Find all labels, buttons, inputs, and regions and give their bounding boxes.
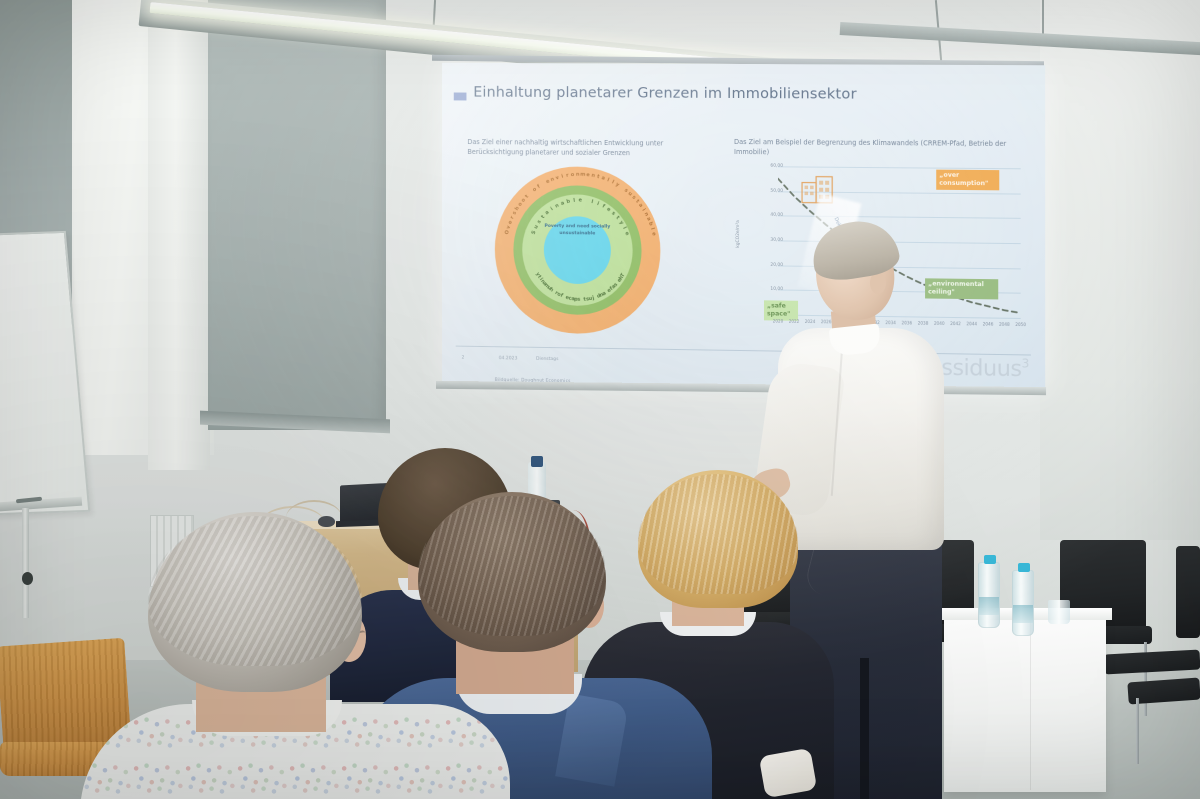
drinking-glass[interactable] xyxy=(1048,600,1070,624)
black-chair-back xyxy=(1176,546,1200,638)
pedestal-table xyxy=(944,614,1106,792)
slide-page-number: 2 xyxy=(462,356,465,361)
slide-footer-context: Dienstags xyxy=(536,357,558,362)
slide-footer-date: 04.2023 xyxy=(499,356,518,361)
window-blind[interactable] xyxy=(208,0,386,430)
grey-man-hair-texture xyxy=(148,516,362,666)
presenter-leg-split xyxy=(860,658,869,799)
slide-title: Einhaltung planetarer Grenzen im Immobil… xyxy=(473,85,1012,104)
doughnut-economics-diagram: Overshoot of environmentally sustainable… xyxy=(477,162,684,338)
slide-subheading-left: Das Ziel einer nachhaltig wirtschaftlich… xyxy=(467,138,712,159)
chart-y-ticks: 60,0050,0040,0030,0020,0010,000,00 xyxy=(738,162,1031,164)
water-bottle[interactable] xyxy=(1012,570,1034,636)
chart-y-axis-label: kgCO2e/m²a xyxy=(736,220,741,248)
chart-x-tick-label: 2044 xyxy=(966,321,977,326)
right-wall-band xyxy=(1040,0,1200,540)
slide-subheading-right: Das Ziel am Beispiel der Begrenzung des … xyxy=(734,138,1022,159)
bottle-label xyxy=(979,597,999,615)
door-jamb xyxy=(148,0,210,470)
conference-room-photo: Einhaltung planetarer Grenzen im Immobil… xyxy=(0,0,1200,799)
company-logo-superscript: 3 xyxy=(1022,356,1029,370)
annotation-over-consumption: „over consumption" xyxy=(936,170,999,190)
chart-x-tick-label: 2050 xyxy=(1015,322,1026,327)
doughnut-core-label: Poverty and need socially unsustainable xyxy=(544,224,611,238)
water-bottle[interactable] xyxy=(978,562,1000,628)
bottle-label xyxy=(1013,605,1033,623)
chart-x-tick-label: 2048 xyxy=(999,322,1010,327)
blonde-sleeve-cuff xyxy=(759,748,818,798)
chair-leg xyxy=(1136,698,1139,764)
chart-x-tick-label: 2046 xyxy=(983,321,994,326)
bottle-cap xyxy=(984,555,996,564)
flipchart-knob[interactable] xyxy=(22,572,33,585)
title-accent-bar xyxy=(454,92,467,100)
flipchart-leg xyxy=(22,508,29,618)
pedestal-seam xyxy=(1030,620,1031,790)
audience-grey-haired-man xyxy=(80,512,510,799)
bottle-cap xyxy=(1018,563,1030,572)
